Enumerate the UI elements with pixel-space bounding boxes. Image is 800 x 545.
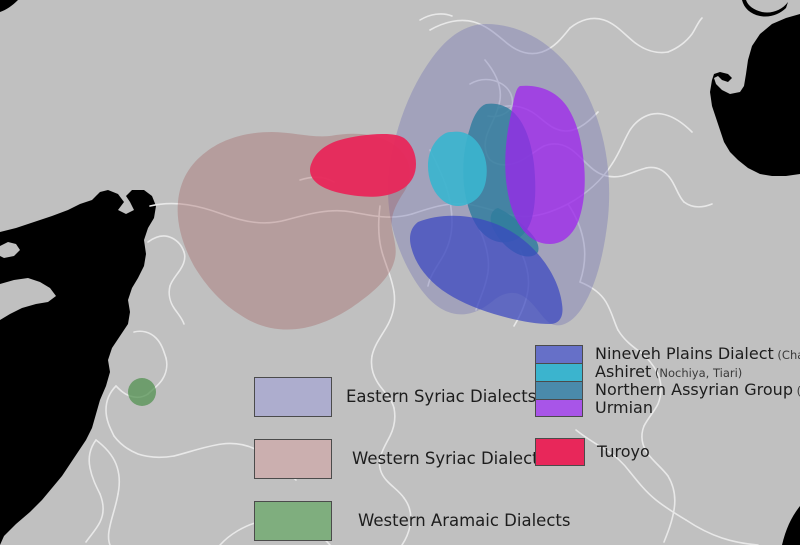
legend-sublabel-ashiret: (Nochiya, Tiari) (651, 366, 742, 380)
legend-label-northern-assyrian: Northern Assyrian Group (Jilu, Baz (595, 382, 800, 398)
legend-label-western-aramaic: Western Aramaic Dialects (358, 513, 570, 530)
legend-label-nineveh-plains: Nineveh Plains Dialect (Chaldean) (595, 346, 800, 362)
legend-item-eastern-syriac[interactable]: Eastern Syriac Dialects (254, 366, 570, 428)
legend-swatch-northern-assyrian (535, 381, 583, 399)
legend-eastern-subgroups: Nineveh Plains Dialect (Chaldean) Ashire… (535, 345, 800, 467)
legend-group-stack: Nineveh Plains Dialect (Chaldean) Ashire… (535, 345, 800, 417)
legend-item-western-syriac[interactable]: Western Syriac Dialects (254, 428, 570, 490)
legend-item-western-aramaic[interactable]: Western Aramaic Dialects (254, 490, 570, 545)
legend-item-urmian[interactable]: Urmian (535, 399, 800, 417)
legend-label-urmian-main: Urmian (595, 398, 653, 417)
legend-swatch-eastern-syriac (254, 377, 332, 417)
legend-primary: Eastern Syriac Dialects Western Syriac D… (254, 366, 570, 545)
legend-item-nineveh-plains[interactable]: Nineveh Plains Dialect (Chaldean) (535, 345, 800, 363)
legend-sublabel-nineveh-plains: (Chaldean) (774, 348, 800, 362)
legend-sublabel-northern-assyrian: (Jilu, Baz (793, 384, 800, 398)
legend-swatch-western-syriac (254, 439, 332, 479)
legend-swatch-turoyo (535, 438, 585, 466)
legend-label-nineveh-plains-main: Nineveh Plains Dialect (595, 344, 774, 363)
legend-swatch-western-aramaic (254, 501, 332, 541)
region-western-aramaic (128, 378, 156, 406)
legend-item-northern-assyrian[interactable]: Northern Assyrian Group (Jilu, Baz (535, 381, 800, 399)
legend-swatch-ashiret (535, 363, 583, 381)
legend-item-turoyo[interactable]: Turoyo (535, 437, 800, 467)
legend-label-northern-assyrian-main: Northern Assyrian Group (595, 380, 793, 399)
legend-swatch-urmian (535, 399, 583, 417)
dialect-map: Eastern Syriac Dialects Western Syriac D… (0, 0, 800, 545)
legend-label-eastern-syriac: Eastern Syriac Dialects (346, 389, 536, 406)
legend-label-ashiret-main: Ashiret (595, 362, 651, 381)
legend-label-ashiret: Ashiret (Nochiya, Tiari) (595, 364, 742, 380)
legend-label-urmian: Urmian (595, 400, 653, 416)
legend-swatch-nineveh-plains (535, 345, 583, 363)
legend-item-ashiret[interactable]: Ashiret (Nochiya, Tiari) (535, 363, 800, 381)
legend-label-turoyo: Turoyo (597, 444, 650, 460)
legend-label-western-syriac: Western Syriac Dialects (352, 451, 547, 468)
